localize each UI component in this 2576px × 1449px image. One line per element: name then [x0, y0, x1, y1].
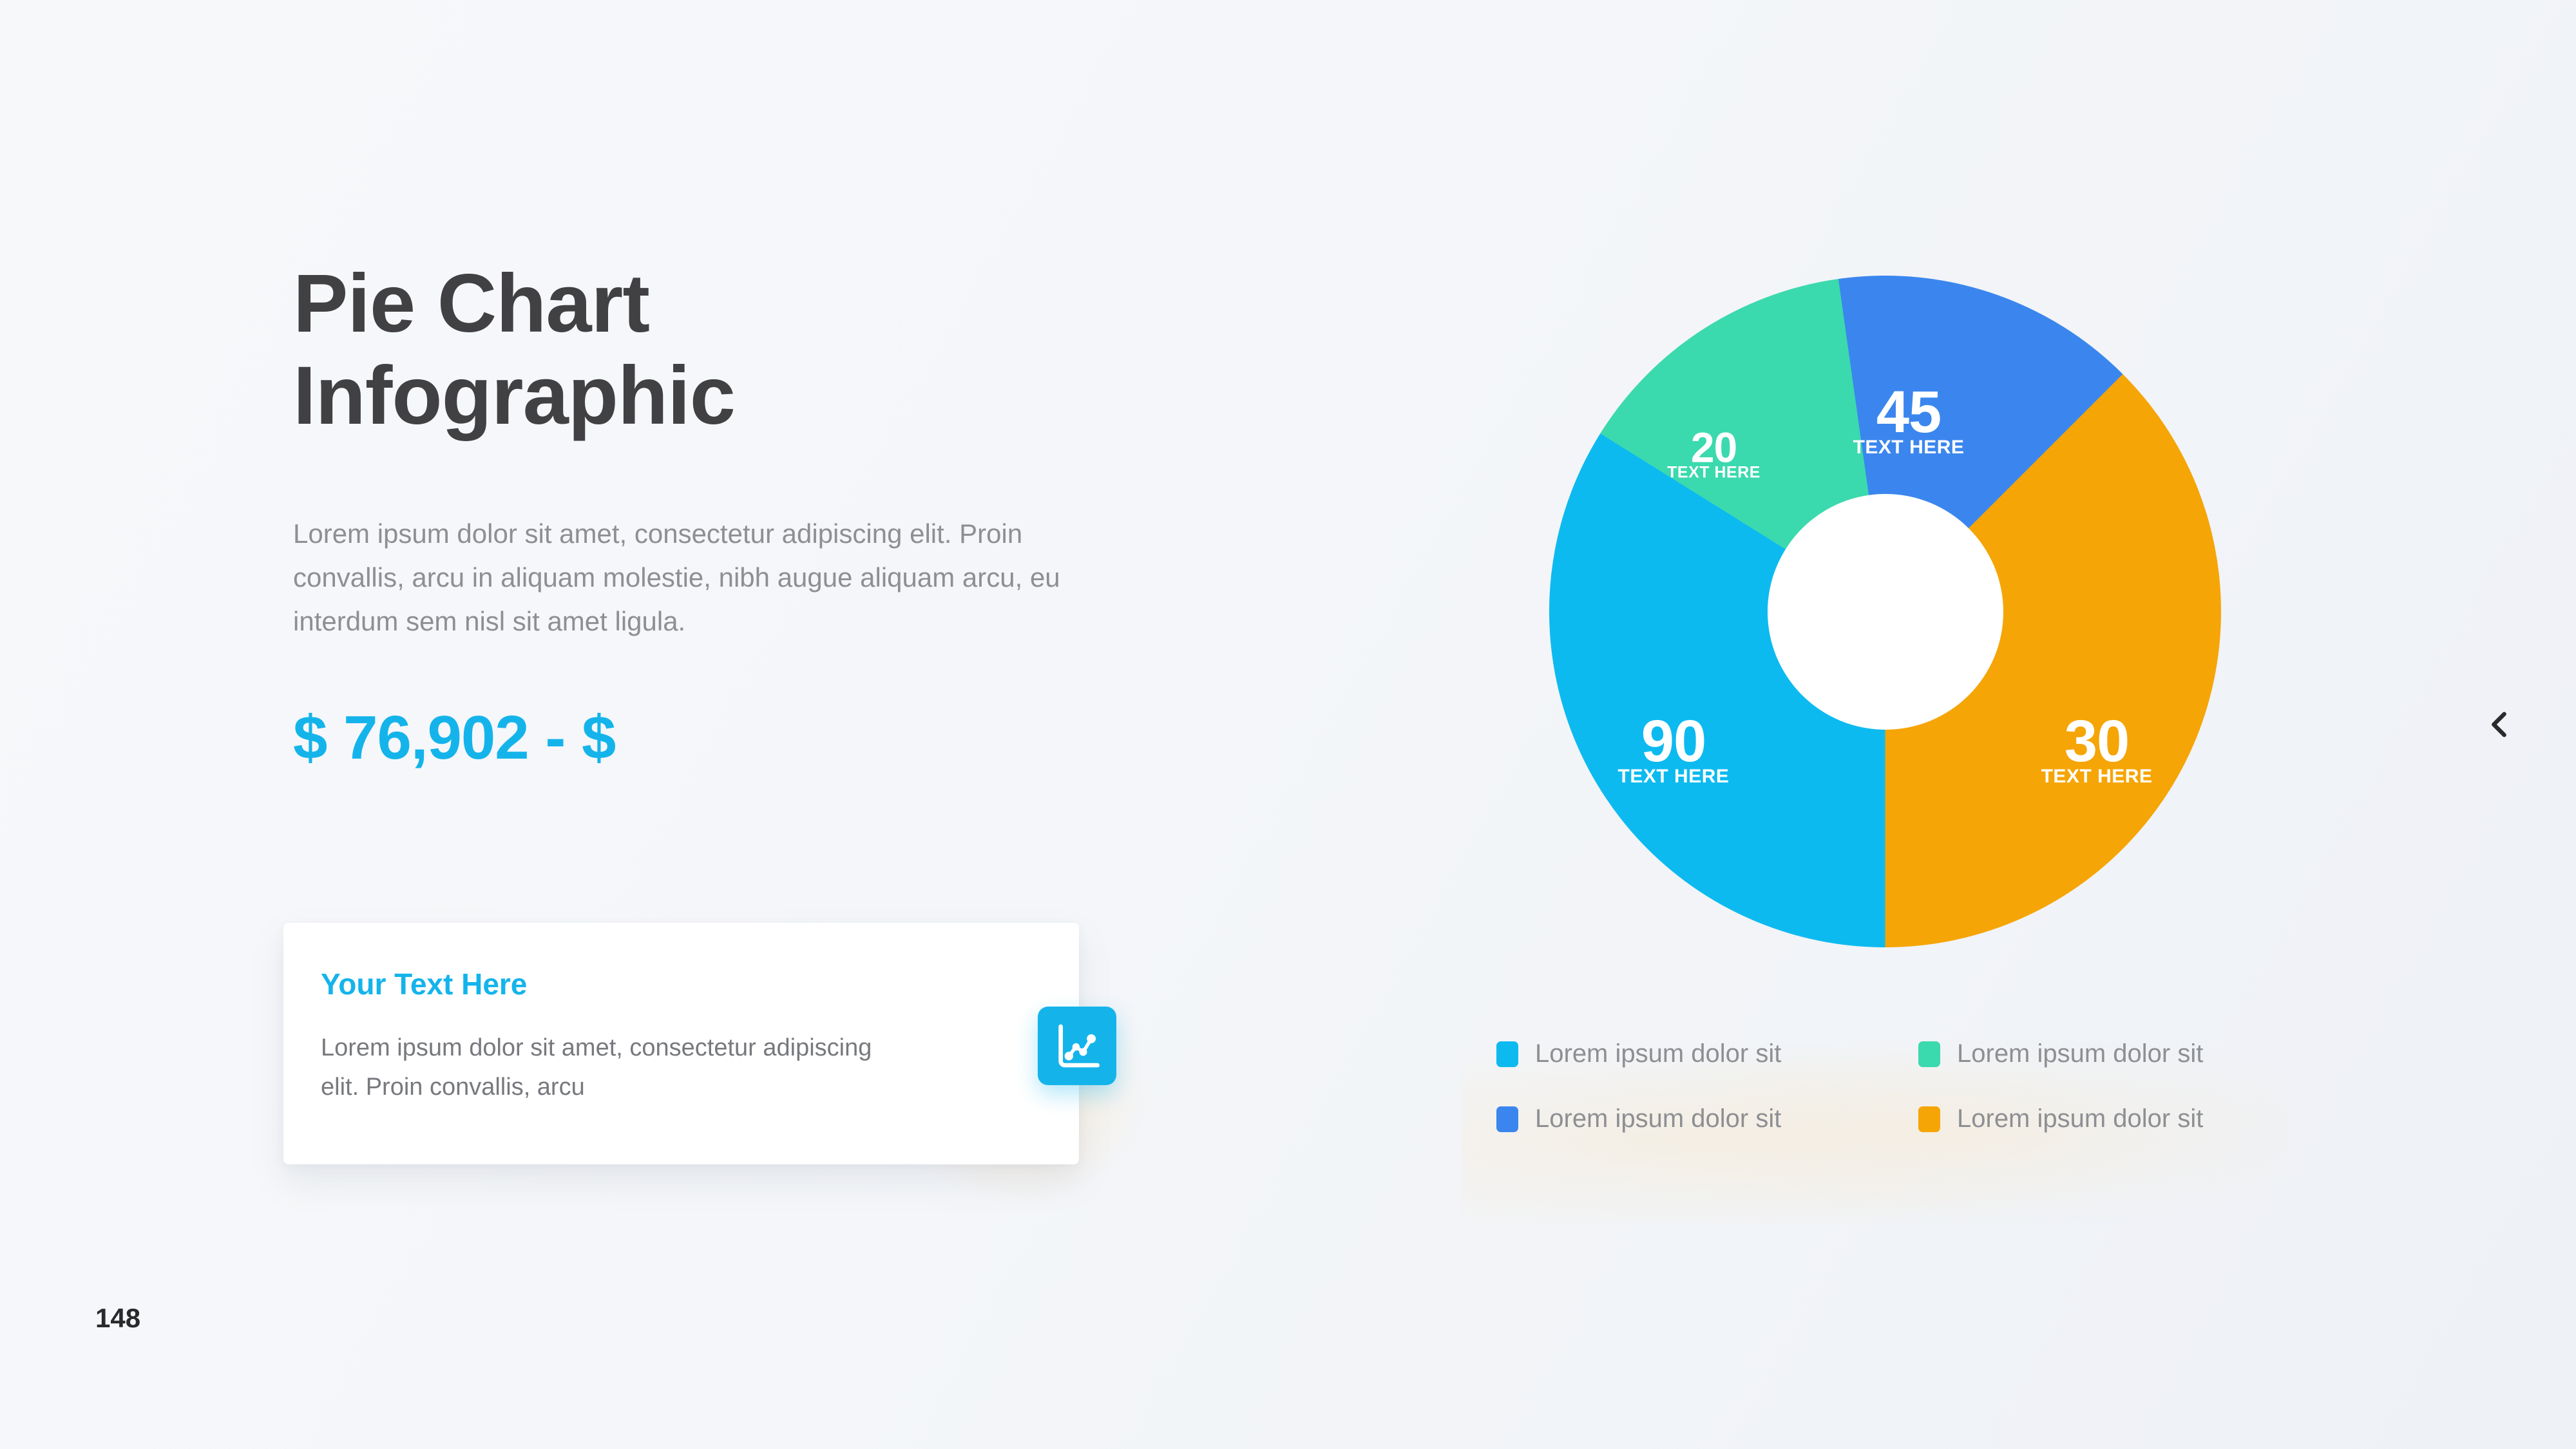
chevron-left-icon[interactable]: [2474, 699, 2525, 750]
left-content-column: Pie Chart Infographic Lorem ipsum dolor …: [293, 258, 1156, 773]
slice-caption: TEXT HERE: [2041, 767, 2153, 786]
legend-label: Lorem ipsum dolor sit: [1535, 1039, 1781, 1068]
legend-item[interactable]: Lorem ipsum dolor sit: [1918, 1039, 2253, 1068]
legend-label: Lorem ipsum dolor sit: [1535, 1104, 1781, 1133]
info-card[interactable]: Your Text Here Lorem ipsum dolor sit ame…: [283, 923, 1079, 1164]
legend-color-swatch: [1918, 1106, 1940, 1132]
legend-item[interactable]: Lorem ipsum dolor sit: [1496, 1039, 1918, 1068]
slice-caption: TEXT HERE: [1667, 465, 1760, 481]
slice-label-90: 90 TEXT HERE: [1618, 712, 1730, 786]
slice-value: 45: [1853, 383, 1965, 442]
info-card-title: Your Text Here: [321, 967, 1079, 1001]
page-number: 148: [95, 1303, 140, 1334]
slide-canvas: Pie Chart Infographic Lorem ipsum dolor …: [0, 0, 2576, 1449]
legend-item[interactable]: Lorem ipsum dolor sit: [1918, 1104, 2253, 1133]
body-paragraph: Lorem ipsum dolor sit amet, consectetur …: [293, 512, 1134, 643]
line-chart-icon: [1038, 1007, 1116, 1085]
info-card-text: Lorem ipsum dolor sit amet, consectetur …: [321, 1028, 875, 1107]
legend-label: Lorem ipsum dolor sit: [1957, 1104, 2203, 1133]
legend-color-swatch: [1918, 1041, 1940, 1067]
donut-center-hole: [1768, 494, 2003, 730]
legend-label: Lorem ipsum dolor sit: [1957, 1039, 2203, 1068]
price-figure: $ 76,902 - $: [293, 703, 1156, 773]
slice-label-45: 45 TEXT HERE: [1853, 383, 1965, 457]
legend-color-swatch: [1496, 1041, 1518, 1067]
info-card-body: Your Text Here Lorem ipsum dolor sit ame…: [283, 923, 1079, 1107]
chart-legend: Lorem ipsum dolor sitLorem ipsum dolor s…: [1496, 1039, 2256, 1133]
slice-value: 30: [2041, 712, 2153, 771]
slice-label-20: 20 TEXT HERE: [1667, 426, 1760, 481]
slice-value: 20: [1667, 426, 1760, 469]
pie-chart: 45 TEXT HERE 30 TEXT HERE 90 TEXT HERE 2…: [1549, 276, 2221, 947]
page-title: Pie Chart Infographic: [293, 258, 1156, 442]
slice-label-30: 30 TEXT HERE: [2041, 712, 2153, 786]
slice-caption: TEXT HERE: [1853, 438, 1965, 457]
slice-value: 90: [1618, 712, 1730, 771]
slice-caption: TEXT HERE: [1618, 767, 1730, 786]
legend-item[interactable]: Lorem ipsum dolor sit: [1496, 1104, 1918, 1133]
legend-color-swatch: [1496, 1106, 1518, 1132]
